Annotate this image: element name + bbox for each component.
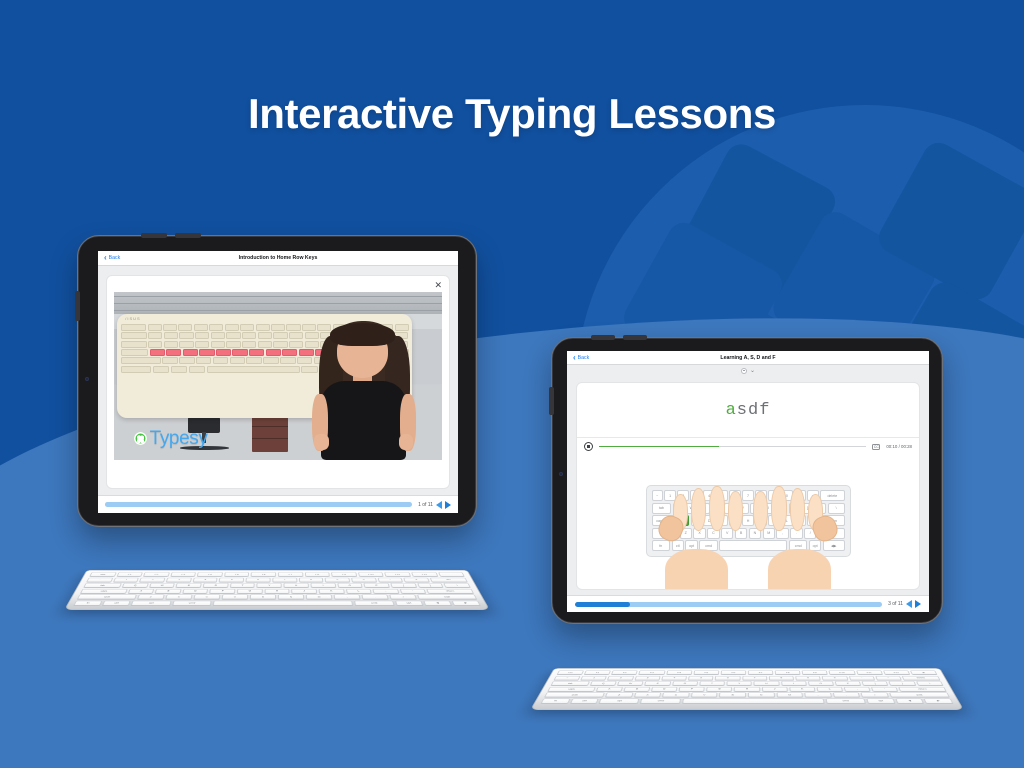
drill-card: asdf CC 00:10 / 00:28	[576, 382, 920, 590]
device-right-tablet: ‹ Back Learning A, S, D and F ⌄	[552, 338, 942, 623]
video-cabinet	[252, 415, 288, 452]
volume-button[interactable]	[141, 233, 167, 238]
prev-slide-button[interactable]	[436, 501, 442, 509]
pause-icon[interactable]	[584, 442, 593, 451]
lesson-title: Introduction to Home Row Keys	[98, 255, 458, 261]
audio-player: CC 00:10 / 00:28	[577, 437, 919, 455]
hardware-keyboard-left[interactable]: escF1F2F3F4 F5F6F7F8F9 F10F11F12 ~1234 5…	[64, 530, 490, 610]
hardware-keyboard-right[interactable]: escF1F2F3F4 F5F6F7F8F9 F10F11F12⏏ ~1234 …	[530, 626, 964, 710]
keyboard-brand-label: /ISUS	[125, 316, 140, 321]
drill-text: asdf	[726, 401, 771, 420]
footer-right: 3 of 11	[567, 595, 929, 612]
volume-button[interactable]	[175, 233, 201, 238]
footer-nav-left: 1 of 11	[418, 501, 451, 509]
back-label: Back	[578, 355, 590, 361]
drill-typed-chars: a	[726, 401, 737, 420]
footer-left: 1 of 11	[98, 495, 458, 513]
active-key-a[interactable]: A	[678, 515, 689, 526]
lesson-video[interactable]: /ISUS	[114, 292, 442, 460]
slide-position-label: 3 of 11	[888, 601, 903, 607]
tablet-body-left: ‹ Back Introduction to Home Row Keys ✕	[78, 236, 476, 526]
video-ceiling	[114, 292, 442, 314]
video-watermark: Typesy	[134, 428, 208, 450]
front-camera-icon	[85, 377, 89, 381]
power-button[interactable]	[75, 291, 80, 321]
page-title: Interactive Typing Lessons	[0, 90, 1024, 138]
screen-left: ‹ Back Introduction to Home Row Keys ✕	[98, 251, 458, 513]
settings-toolbar: ⌄	[567, 365, 929, 376]
lesson-stage-left: ✕	[98, 266, 458, 495]
device-left-tablet: ‹ Back Introduction to Home Row Keys ✕	[78, 236, 476, 526]
video-card: ✕	[106, 275, 450, 489]
power-button[interactable]	[549, 387, 554, 415]
back-label: Back	[109, 255, 121, 261]
navbar-right: ‹ Back Learning A, S, D and F	[567, 351, 929, 365]
lesson-progress-bar[interactable]	[105, 502, 412, 507]
onscreen-keyboard[interactable]: ~1234 56789 0-=delete tabQWER TYUIO P[]\	[646, 485, 851, 557]
poster-canvas: Interactive Typing Lessons ‹ Back Introd…	[0, 0, 1024, 768]
next-slide-button[interactable]	[445, 501, 451, 509]
lesson-title: Learning A, S, D and F	[567, 355, 929, 361]
chevron-left-icon: ‹	[104, 254, 107, 262]
drill-stage-right: asdf CC 00:10 / 00:28	[567, 376, 929, 595]
slide-position-label: 1 of 11	[418, 502, 433, 508]
keyboard-visual-area: ~1234 56789 0-=delete tabQWER TYUIO P[]\	[577, 455, 919, 589]
volume-button[interactable]	[623, 335, 647, 340]
video-instructor	[308, 316, 420, 460]
screen-right: ‹ Back Learning A, S, D and F ⌄	[567, 351, 929, 612]
audio-progress-bar[interactable]	[599, 446, 866, 448]
tablet-body-right: ‹ Back Learning A, S, D and F ⌄	[552, 338, 942, 623]
left-hand	[665, 549, 728, 590]
gear-icon[interactable]	[741, 368, 747, 374]
close-icon[interactable]: ✕	[434, 281, 442, 290]
right-hand	[768, 549, 831, 590]
navbar-left: ‹ Back Introduction to Home Row Keys	[98, 251, 458, 266]
front-camera-icon	[559, 472, 563, 476]
playback-time: 00:10 / 00:28	[886, 444, 912, 449]
footer-nav-right: 3 of 11	[888, 600, 921, 608]
drill-text-panel[interactable]: asdf	[577, 383, 919, 437]
watermark-label: Typesy	[150, 428, 208, 450]
drill-remaining-chars: sdf	[737, 401, 771, 420]
typesy-logo-icon	[134, 432, 147, 445]
volume-button[interactable]	[591, 335, 615, 340]
next-slide-button[interactable]	[915, 600, 921, 608]
back-button[interactable]: ‹ Back	[567, 354, 589, 362]
back-button[interactable]: ‹ Back	[98, 254, 120, 262]
lesson-progress-bar[interactable]	[575, 602, 882, 607]
closed-caption-icon[interactable]: CC	[872, 444, 880, 450]
chevron-down-icon[interactable]: ⌄	[750, 368, 755, 374]
chevron-left-icon: ‹	[573, 354, 576, 362]
prev-slide-button[interactable]	[906, 600, 912, 608]
